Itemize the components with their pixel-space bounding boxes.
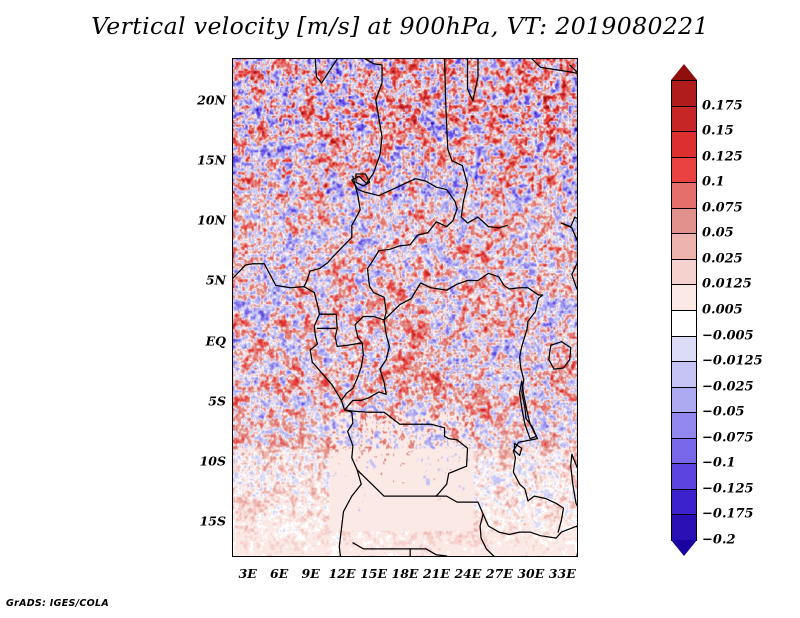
map-border-line — [561, 77, 577, 227]
colorbar-band — [671, 463, 697, 490]
colorbar-band — [671, 106, 697, 133]
y-axis-labels: 20N15N10N5NEQ5S10S15S — [186, 58, 226, 557]
colorbar-band — [671, 182, 697, 209]
map-border-line — [468, 59, 478, 101]
colorbar-band — [671, 412, 697, 439]
y-axis-label: 10S — [200, 453, 226, 468]
colorbar[interactable]: 0.1750.150.1250.10.0750.050.0250.01250.0… — [671, 64, 699, 556]
colorbar-label: −0.2 — [702, 533, 736, 548]
colorbar-cap-min — [671, 540, 697, 556]
colorbar-band — [671, 336, 697, 363]
colorbar-band — [671, 489, 697, 516]
colorbar-band — [671, 438, 697, 465]
x-axis-label: 24E — [454, 566, 481, 581]
map-border-line — [571, 454, 577, 513]
colorbar-label: 0.025 — [702, 251, 743, 266]
x-axis-label: 6E — [270, 566, 288, 581]
map-border-line — [352, 59, 382, 192]
map-border-line — [513, 330, 537, 501]
footer-credit: GrADS: IGES/COLA — [6, 598, 109, 609]
map-border-line — [570, 65, 577, 188]
x-axis-label: 27E — [486, 566, 513, 581]
colorbar-label: 0.05 — [702, 226, 734, 241]
y-axis-label: 5N — [206, 273, 226, 288]
x-axis-label: 18E — [392, 566, 419, 581]
colorbar-band — [671, 387, 697, 414]
colorbar-label: −0.05 — [702, 405, 745, 420]
colorbar-label: 0.1 — [702, 175, 725, 190]
map-border-line — [345, 320, 390, 410]
colorbar-label: 0.125 — [702, 149, 743, 164]
colorbar-label: 0.175 — [702, 98, 743, 113]
colorbar-band — [671, 514, 697, 541]
colorbar-label: 0.075 — [702, 200, 743, 215]
x-axis-label: 9E — [302, 566, 320, 581]
colorbar-label: −0.125 — [702, 481, 754, 496]
y-tick — [232, 342, 233, 343]
x-axis-label: 3E — [239, 566, 257, 581]
y-axis-label: 15S — [200, 513, 226, 528]
map-plot-area[interactable] — [232, 58, 578, 557]
country-borders-overlay — [233, 59, 577, 556]
map-border-line — [528, 496, 563, 532]
map-border-line — [561, 223, 577, 296]
colorbar-label: 0.0125 — [702, 277, 752, 292]
colorbar-band — [671, 208, 697, 235]
colorbar-band — [671, 233, 697, 260]
x-axis-label: 33E — [549, 566, 576, 581]
map-border-line — [384, 273, 542, 320]
map-border-line — [304, 176, 360, 286]
colorbar-label: −0.1 — [702, 456, 736, 471]
y-axis-label: 20N — [197, 93, 226, 108]
map-border-line — [341, 316, 384, 400]
colorbar-band — [671, 310, 697, 337]
y-tick — [232, 101, 233, 102]
colorbar-cap-max — [671, 64, 697, 80]
colorbar-band — [671, 259, 697, 286]
colorbar-band — [671, 361, 697, 388]
map-border-line — [315, 59, 337, 83]
x-axis-label: 30E — [517, 566, 544, 581]
colorbar-label: −0.175 — [702, 507, 754, 522]
colorbar-label: −0.075 — [702, 430, 754, 445]
y-tick — [232, 462, 233, 463]
map-border-line — [353, 543, 447, 556]
y-axis-label: 5S — [208, 393, 226, 408]
map-border-line — [233, 264, 264, 278]
colorbar-band — [671, 157, 697, 184]
colorbar-label: 0.005 — [702, 303, 743, 318]
map-border-line — [436, 496, 577, 538]
map-border-line — [345, 410, 468, 496]
y-tick — [232, 161, 233, 162]
colorbar-label: −0.025 — [702, 379, 754, 394]
x-axis-label: 15E — [360, 566, 387, 581]
map-border-line — [527, 295, 543, 330]
y-tick — [232, 281, 233, 282]
x-axis-label: 21E — [423, 566, 450, 581]
colorbar-band — [671, 80, 697, 107]
colorbar-band — [671, 131, 697, 158]
map-border-line — [549, 342, 571, 369]
y-tick — [232, 522, 233, 523]
y-axis-label: 10N — [197, 213, 226, 228]
colorbar-label: −0.005 — [702, 328, 754, 343]
y-axis-label: EQ — [206, 333, 226, 348]
map-border-line — [369, 278, 387, 320]
y-tick — [232, 402, 233, 403]
map-border-line — [514, 443, 521, 455]
colorbar-label: −0.0125 — [702, 354, 763, 369]
colorbar-label: 0.15 — [702, 124, 734, 139]
x-axis-label: 12E — [329, 566, 356, 581]
y-tick — [232, 221, 233, 222]
colorbar-band — [671, 284, 697, 311]
map-border-line — [480, 514, 494, 556]
page-title: Vertical velocity [m/s] at 900hPa, VT: 2… — [0, 12, 800, 40]
map-border-line — [364, 179, 457, 278]
x-axis-labels: 3E6E9E12E15E18E21E24E27E30E33E — [232, 566, 578, 586]
y-axis-label: 15N — [197, 153, 226, 168]
